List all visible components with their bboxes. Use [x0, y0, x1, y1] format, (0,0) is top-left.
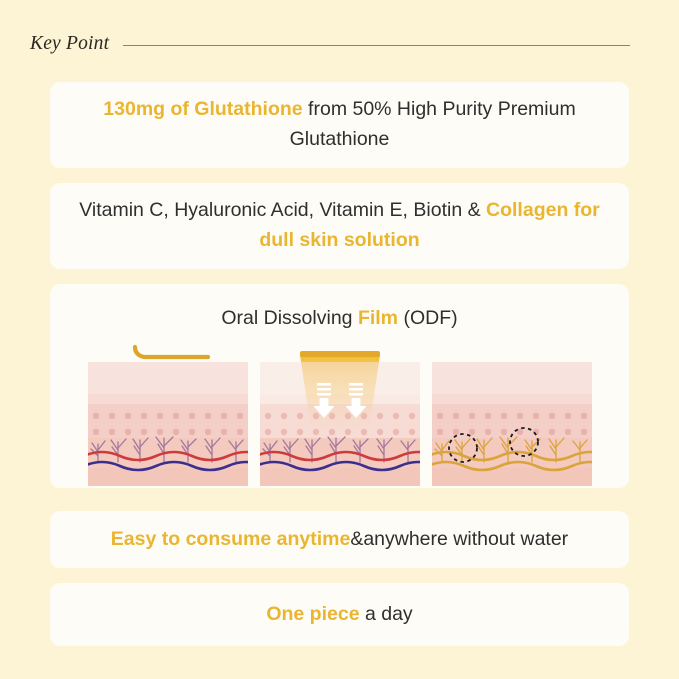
glutathione-dose-plain: from 50% High Purity Premium Glutathione [290, 98, 576, 150]
odf-title-plain-1: Oral Dissolving [221, 307, 358, 329]
skin-cross-section-2-icon [260, 344, 420, 486]
card-glutathione-dose-text: 130mg of Glutathione from 50% High Purit… [50, 95, 629, 154]
odf-panel-row [88, 344, 592, 486]
film-bar-icon [300, 351, 380, 357]
section-header: Key Point [30, 28, 652, 60]
easy-to-consume-plain: &anywhere without water [350, 528, 568, 550]
one-piece-plain: a day [360, 603, 413, 625]
skin-cross-section-1-icon [88, 344, 248, 486]
card-ingredients: Vitamin C, Hyaluronic Acid, Vitamin E, B… [50, 183, 629, 269]
page-title: Key Point [30, 33, 109, 55]
glutathione-dose-highlight: 130mg of Glutathione [103, 98, 302, 120]
ingredients-plain: Vitamin C, Hyaluronic Acid, Vitamin E, B… [79, 199, 486, 221]
card-oral-dissolving-film: Oral Dissolving Film (ODF) [50, 284, 629, 488]
skin-cross-section-3-icon [432, 344, 592, 486]
odf-title-highlight: Film [358, 307, 398, 329]
card-easy-to-consume-text: Easy to consume anytime&anywhere without… [85, 525, 594, 555]
header-divider-line [123, 45, 630, 46]
key-point-infographic: Key Point 130mg of Glutathione from 50% … [0, 0, 679, 679]
diagram-panel-film-dissolving [260, 344, 420, 486]
card-one-piece-a-day-text: One piece a day [240, 600, 438, 630]
card-easy-to-consume: Easy to consume anytime&anywhere without… [50, 511, 629, 568]
odf-title: Oral Dissolving Film (ODF) [221, 307, 457, 330]
diagram-panel-film-on-skin [88, 344, 248, 486]
card-glutathione-dose: 130mg of Glutathione from 50% High Purit… [50, 82, 629, 168]
odf-title-plain-2: (ODF) [398, 307, 458, 329]
one-piece-highlight: One piece [266, 603, 359, 625]
card-one-piece-a-day: One piece a day [50, 583, 629, 646]
easy-to-consume-highlight: Easy to consume anytime [111, 528, 351, 550]
diagram-panel-absorbed [432, 344, 592, 486]
card-ingredients-text: Vitamin C, Hyaluronic Acid, Vitamin E, B… [50, 196, 629, 255]
film-strip-icon [135, 347, 208, 357]
